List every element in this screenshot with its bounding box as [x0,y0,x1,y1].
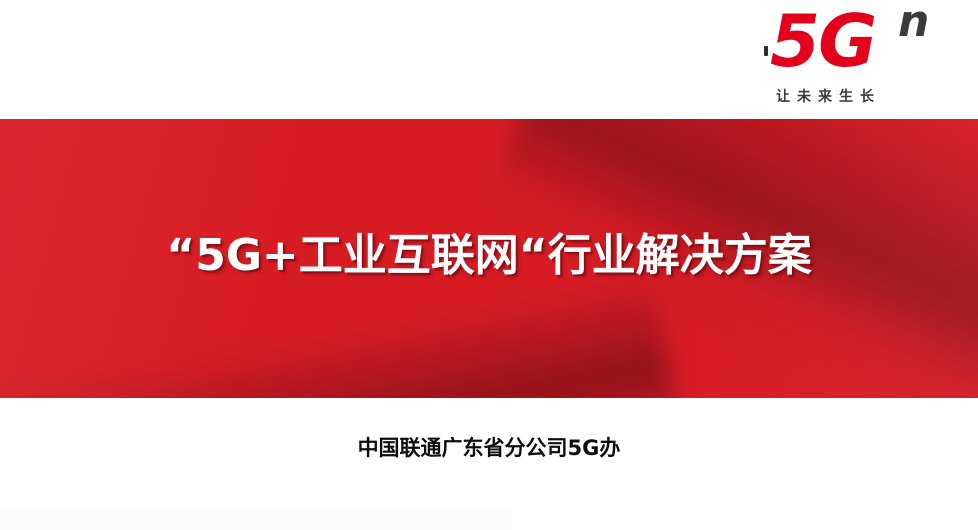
logo-superscript-n: n [898,0,929,48]
slide-canvas: 5G n 让未来生长 “5G+工业互联网“行业解决方案 中国联通广东省分公司5G… [0,0,978,529]
brand-logo: 5G n 让未来生长 [762,0,978,118]
logo-accent-dot [764,46,768,56]
logo-tagline: 让未来生长 [776,86,956,106]
slide-title: “5G+工业互联网“行业解决方案 [0,228,978,284]
bottom-panel [0,508,512,530]
slide-subtitle: 中国联通广东省分公司5G办 [0,433,978,463]
logo-mark: 5G n [762,2,978,80]
logo-wordmark-5g: 5G [770,2,875,80]
